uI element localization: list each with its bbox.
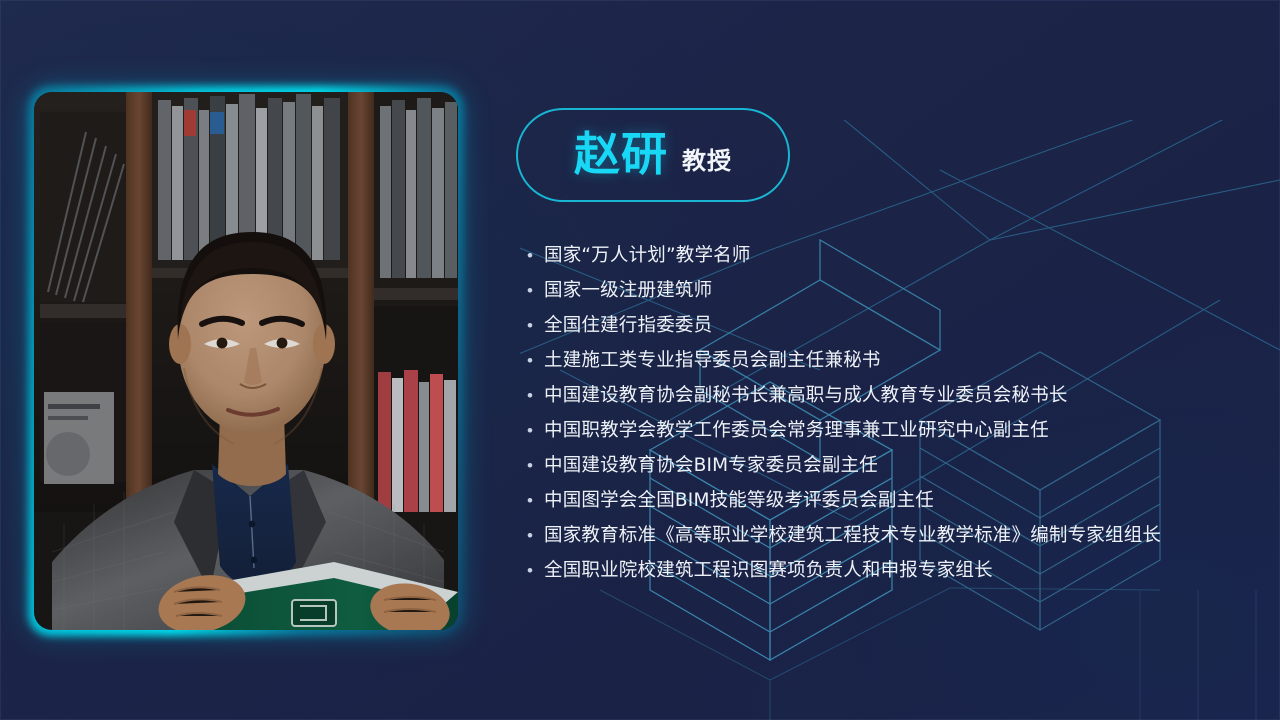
credential-text: 中国建设教育协会副秘书长兼高职与成人教育专业委员会秘书长 bbox=[544, 383, 1068, 409]
list-item: • 中国建设教育协会副秘书长兼高职与成人教育专业委员会秘书长 bbox=[520, 383, 1260, 418]
list-item: • 中国建设教育协会BIM专家委员会副主任 bbox=[520, 453, 1260, 488]
portrait-image bbox=[34, 92, 458, 630]
bullet-icon: • bbox=[520, 313, 544, 339]
bullet-icon: • bbox=[520, 523, 544, 549]
bullet-icon: • bbox=[520, 558, 544, 584]
credential-text: 中国图学会全国BIM技能等级考评委员会副主任 bbox=[544, 488, 934, 514]
bullet-icon: • bbox=[520, 383, 544, 409]
list-item: • 国家教育标准《高等职业学校建筑工程技术专业教学标准》编制专家组组长 bbox=[520, 523, 1260, 558]
name-badge: 赵研 教授 bbox=[516, 108, 790, 202]
credential-text: 国家“万人计划”教学名师 bbox=[544, 243, 751, 269]
person-title: 教授 bbox=[682, 149, 732, 173]
slide-root: 赵研 教授 • 国家“万人计划”教学名师 • 国家一级注册建筑师 • 全国住建行… bbox=[0, 0, 1280, 720]
bullet-icon: • bbox=[520, 278, 544, 304]
list-item: • 国家一级注册建筑师 bbox=[520, 278, 1260, 313]
credential-text: 全国职业院校建筑工程识图赛项负责人和申报专家组长 bbox=[544, 558, 993, 584]
bullet-icon: • bbox=[520, 453, 544, 479]
bullet-icon: • bbox=[520, 348, 544, 374]
credential-text: 全国住建行指委委员 bbox=[544, 313, 712, 339]
person-name: 赵研 bbox=[574, 131, 668, 177]
portrait-photo bbox=[34, 92, 458, 630]
bullet-icon: • bbox=[520, 418, 544, 444]
list-item: • 全国住建行指委委员 bbox=[520, 313, 1260, 348]
list-item: • 中国图学会全国BIM技能等级考评委员会副主任 bbox=[520, 488, 1260, 523]
credential-text: 国家教育标准《高等职业学校建筑工程技术专业教学标准》编制专家组组长 bbox=[544, 523, 1161, 549]
credential-text: 中国职教学会教学工作委员会常务理事兼工业研究中心副主任 bbox=[544, 418, 1049, 444]
credential-text: 土建施工类专业指导委员会副主任兼秘书 bbox=[544, 348, 881, 374]
photo-frame bbox=[34, 92, 458, 630]
credential-text: 中国建设教育协会BIM专家委员会副主任 bbox=[544, 453, 878, 479]
list-item: • 中国职教学会教学工作委员会常务理事兼工业研究中心副主任 bbox=[520, 418, 1260, 453]
list-item: • 全国职业院校建筑工程识图赛项负责人和申报专家组长 bbox=[520, 558, 1260, 593]
bullet-icon: • bbox=[520, 488, 544, 514]
list-item: • 土建施工类专业指导委员会副主任兼秘书 bbox=[520, 348, 1260, 383]
bullet-icon: • bbox=[520, 243, 544, 269]
credential-text: 国家一级注册建筑师 bbox=[544, 278, 712, 304]
list-item: • 国家“万人计划”教学名师 bbox=[520, 243, 1260, 278]
credential-list: • 国家“万人计划”教学名师 • 国家一级注册建筑师 • 全国住建行指委委员 •… bbox=[520, 243, 1260, 593]
